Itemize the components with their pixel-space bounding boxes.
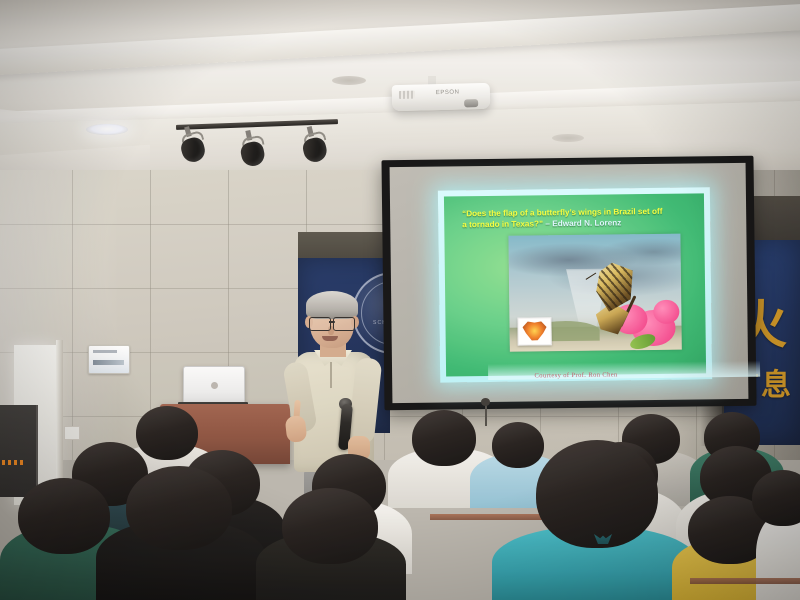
- ceiling-cove-band: [0, 1, 800, 77]
- presenter-hair: [306, 291, 358, 319]
- audience: [0, 392, 800, 600]
- glasses-icon: [308, 317, 356, 329]
- list-item: [536, 440, 658, 548]
- slide-quote-line2: a tornado in Texas?”: [462, 219, 543, 229]
- presentation-slide: “Does the flap of a butterfly’s wings in…: [444, 193, 706, 376]
- presenter-shirt-placket: [330, 362, 332, 388]
- presenter-mouth: [322, 336, 338, 341]
- desk-edge: [690, 578, 800, 584]
- list-item: [492, 422, 544, 468]
- wall-sign-placard: [88, 345, 130, 374]
- slide-quote: “Does the flap of a butterfly’s wings in…: [462, 205, 694, 230]
- list-item: [18, 478, 110, 554]
- ceiling-projector: EPSON: [392, 83, 491, 111]
- list-item: [126, 466, 232, 550]
- projected-light-halo: “Does the flap of a butterfly’s wings in…: [438, 187, 712, 382]
- list-item: [752, 470, 800, 526]
- pink-flower-3: [653, 300, 679, 324]
- recessed-downlight-icon: [86, 124, 128, 135]
- projector-vent-icon: [399, 91, 415, 99]
- list-item: [412, 410, 476, 466]
- lecture-hall-photo: EPSON SCHOOL OF 火 信息: [0, 0, 800, 600]
- list-item: [282, 488, 378, 564]
- projector-lens-icon: [464, 99, 478, 107]
- inset-butterfly-icon: [522, 321, 546, 340]
- screen-surface: “Does the flap of a butterfly’s wings in…: [390, 163, 749, 403]
- banner-left-header: [298, 232, 390, 259]
- list-item: [136, 406, 198, 460]
- ceiling-vent-icon-secondary: [552, 134, 584, 142]
- slide-quote-line1: “Does the flap of a butterfly’s wings in…: [462, 207, 662, 218]
- laptop-logo-icon: [211, 382, 218, 389]
- slide-photo: [508, 234, 681, 352]
- projector-brand-label: EPSON: [436, 90, 460, 97]
- ceiling-vent-icon: [332, 76, 366, 85]
- projection-screen: “Does the flap of a butterfly’s wings in…: [381, 156, 756, 411]
- slide-attribution: – Edward N. Lorenz: [545, 218, 621, 228]
- butterfly-inset-thumbnail: [517, 317, 551, 345]
